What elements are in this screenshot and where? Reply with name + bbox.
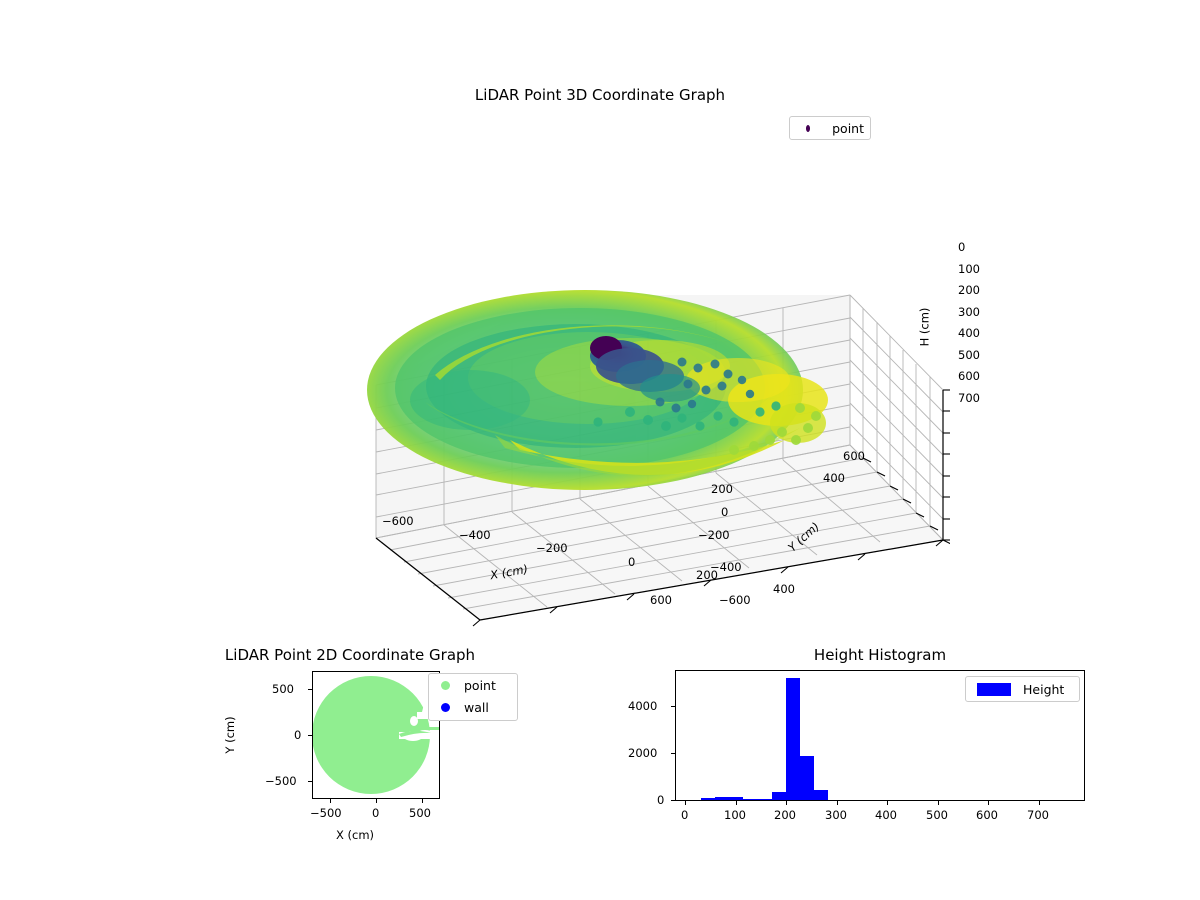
height-patch-icon: [977, 683, 1011, 696]
tickline-2d-y-500: [308, 689, 312, 690]
tickline-hist-x-500: [938, 801, 939, 805]
histogram-bar: [758, 799, 772, 800]
tickline-hist-y-0: [671, 800, 675, 801]
tick-2d-y-0: 500: [272, 682, 294, 696]
axes-2d-lidar[interactable]: [312, 671, 440, 799]
tick-3d-x-5: 400: [773, 582, 795, 596]
tickline-hist-x-600: [988, 801, 989, 805]
tickline-hist-x-100: [736, 801, 737, 805]
tick-hist-y-2: 4000: [628, 699, 657, 713]
tick-hist-x-5: 500: [926, 808, 948, 822]
legend-hist-label-height: Height: [1023, 682, 1064, 697]
legend-2d-entry-point: point: [429, 674, 517, 696]
wall-marker-icon: [441, 703, 450, 712]
tickline-2d-y-neg500: [308, 781, 312, 782]
tick-3d-x-2: −200: [536, 541, 568, 555]
legend-3d-entry-point: point: [790, 117, 870, 139]
tick-3d-y-0: −600: [719, 593, 751, 607]
axes-3d-lidar[interactable]: −600 −400 −200 0 200 400 600 X (cm) −600…: [330, 140, 950, 630]
tick-3d-y-5: 400: [823, 471, 845, 485]
tick-hist-x-1: 100: [724, 808, 746, 822]
tick-hist-y-1: 2000: [628, 746, 657, 760]
tick-3d-z-1: 100: [958, 262, 980, 276]
tickline-hist-x-300: [837, 801, 838, 805]
tick-3d-z-2: 200: [958, 283, 980, 297]
tickline-2d-x-0: [376, 799, 377, 803]
tick-3d-y-4: 200: [711, 482, 733, 496]
tick-hist-x-0: 0: [681, 808, 688, 822]
legend-histogram[interactable]: Height: [965, 676, 1080, 702]
legend-2d-entry-wall: wall: [429, 696, 517, 718]
histogram-bar: [786, 678, 800, 800]
tickline-hist-x-0: [685, 801, 686, 805]
tickline-hist-x-200: [786, 801, 787, 805]
tickline-2d-x-500: [422, 799, 423, 803]
histogram-bar: [729, 797, 743, 800]
histogram-bar: [772, 792, 786, 800]
tick-3d-z-4: 400: [958, 326, 980, 340]
legend-2d[interactable]: point wall: [428, 673, 518, 721]
tickline-hist-x-700: [1039, 801, 1040, 805]
legend-2d-label-point: point: [464, 678, 496, 693]
tick-3d-y-6: 600: [843, 449, 865, 463]
panel-2d-title: LiDAR Point 2D Coordinate Graph: [225, 646, 475, 664]
tick-3d-x-0: −600: [382, 514, 414, 528]
axis-label-2d-y: Y (cm): [223, 716, 237, 753]
ticks-3d-z: [943, 390, 950, 540]
legend-2d-label-wall: wall: [464, 700, 489, 715]
histogram-bar: [800, 756, 814, 800]
matplotlib-figure: LiDAR Point 3D Coordinate Graph point: [0, 0, 1200, 900]
tick-2d-x-0: −500: [310, 806, 342, 820]
tick-hist-x-3: 300: [825, 808, 847, 822]
histogram-bar: [701, 798, 715, 800]
tick-3d-z-5: 500: [958, 348, 980, 362]
scatter-2d-points: [313, 676, 439, 794]
point-marker-icon: [441, 681, 450, 690]
tick-2d-x-2: 500: [409, 806, 431, 820]
tickline-hist-y-4000: [671, 706, 675, 707]
axis-label-3d-z: H (cm): [917, 308, 931, 347]
histogram-bar: [814, 790, 828, 800]
legend-hist-entry-height: Height: [966, 677, 1079, 701]
tick-3d-x-1: −400: [459, 528, 491, 542]
tick-3d-z-6: 600: [958, 369, 980, 383]
tick-hist-x-6: 600: [976, 808, 998, 822]
tick-hist-x-4: 400: [875, 808, 897, 822]
tickline-2d-x-neg500: [330, 799, 331, 803]
scatter-2d-canvas: [313, 672, 439, 798]
tick-3d-y-2: −200: [698, 528, 730, 542]
tick-hist-x-7: 700: [1027, 808, 1049, 822]
legend-3d[interactable]: point: [789, 116, 871, 140]
tick-3d-y-1: −400: [710, 560, 742, 574]
legend-3d-label-point: point: [832, 121, 864, 136]
tick-3d-y-3: 0: [721, 505, 728, 519]
tick-hist-x-2: 200: [774, 808, 796, 822]
axes-3d-canvas: [330, 140, 950, 630]
tick-3d-z-3: 300: [958, 305, 980, 319]
tick-3d-x-6-shifted: 600: [650, 593, 672, 607]
tickline-hist-x-400: [887, 801, 888, 805]
point-marker-icon: [806, 125, 810, 132]
histogram-bar: [743, 799, 757, 800]
tick-2d-y-2: −500: [265, 774, 297, 788]
tickline-hist-y-2000: [671, 753, 675, 754]
tickline-2d-y-0: [308, 735, 312, 736]
histogram-bar: [715, 797, 729, 800]
tick-3d-x-3: 0: [628, 555, 635, 569]
tick-3d-z-0: 0: [958, 240, 965, 254]
axis-label-2d-x: X (cm): [336, 828, 374, 842]
tick-2d-y-1: 0: [294, 728, 301, 742]
tick-3d-z-7: 700: [958, 391, 980, 405]
panel-hist-title: Height Histogram: [814, 646, 946, 664]
tick-2d-x-1: 0: [372, 806, 379, 820]
tick-hist-y-0: 0: [657, 793, 664, 807]
panel-3d-title: LiDAR Point 3D Coordinate Graph: [475, 86, 725, 104]
